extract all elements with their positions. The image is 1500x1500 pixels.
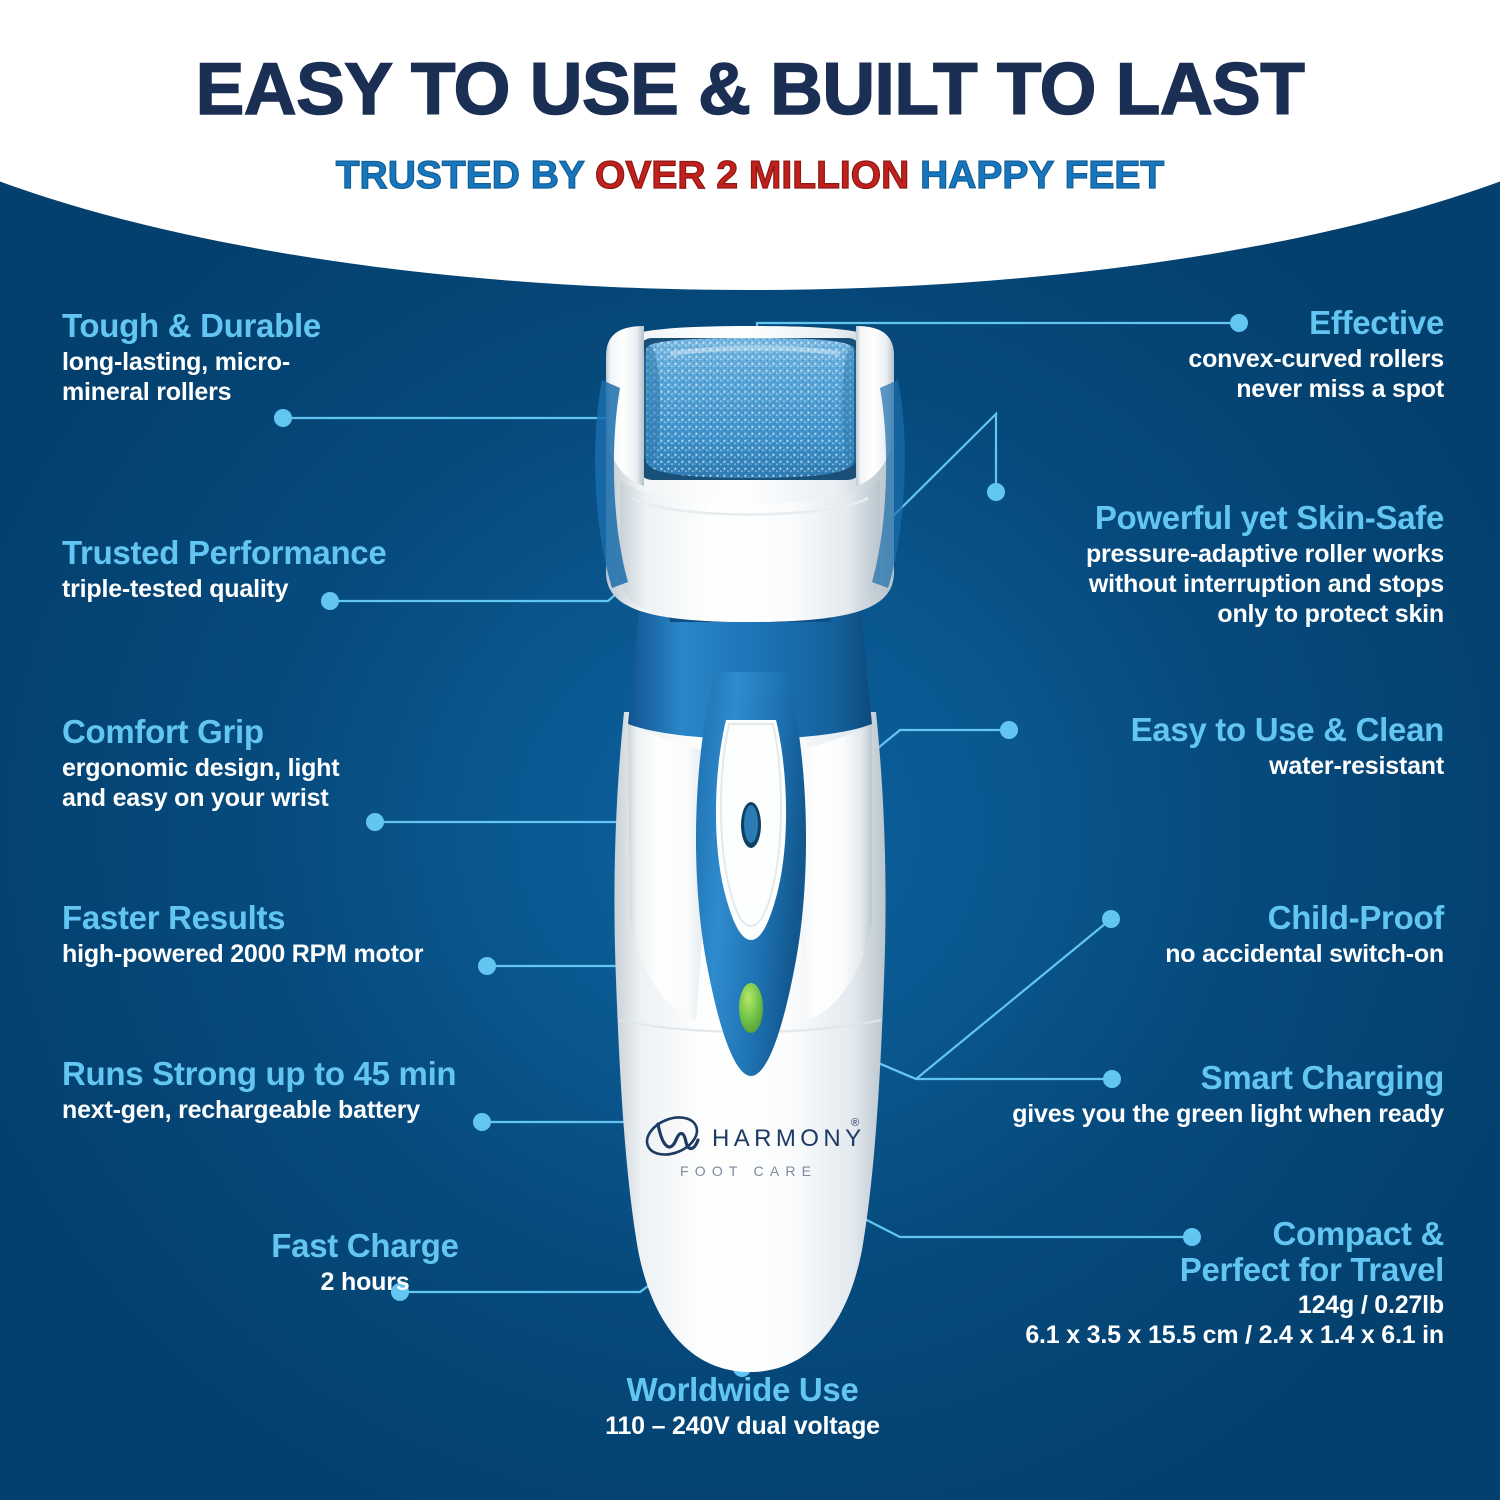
callout-child-proof: Child-Proof no accidental switch-on [924,900,1444,969]
subtitle-part-2: OVER 2 MILLION [595,154,920,197]
header-band: EASY TO USE & BUILT TO LAST TRUSTED BY O… [0,0,1500,300]
callout-effective: Effective convex-curved rollers never mi… [924,305,1444,404]
callout-heading: Faster Results [62,900,423,936]
callout-subtext-line: convex-curved rollers [924,344,1444,374]
page-title: EASY TO USE & BUILT TO LAST [0,48,1500,131]
callout-heading: Compact & [824,1216,1444,1252]
callout-fast-charge: Fast Charge 2 hours [200,1228,530,1297]
callout-heading: Effective [924,305,1444,341]
callout-compact-travel: Compact & Perfect for Travel 124g / 0.27… [824,1216,1444,1350]
callout-easy-use-clean: Easy to Use & Clean water-resistant [924,712,1444,781]
callout-subtext-line: next-gen, rechargeable battery [62,1095,456,1125]
callout-subtext-line: 124g / 0.27lb [824,1290,1444,1320]
callout-heading: Fast Charge [200,1228,530,1264]
callout-worldwide-use: Worldwide Use 110 – 240V dual voltage [470,1372,1015,1441]
header-white-arc [0,0,1500,290]
callout-subtext-line: without interruption and stops [884,569,1444,599]
callout-heading: Smart Charging [884,1060,1444,1096]
callout-tough-durable: Tough & Durable long-lasting, micro- min… [62,308,321,407]
infographic-canvas: HARMONY ® FOOT CARE EASY TO USE & BUILT … [0,0,1500,1500]
callout-subtext-line: pressure-adaptive roller works [884,539,1444,569]
callout-heading: Worldwide Use [470,1372,1015,1408]
callout-subtext-line: 110 – 240V dual voltage [470,1411,1015,1441]
callout-subtext-line: and easy on your wrist [62,783,339,813]
callout-subtext-line: water-resistant [924,751,1444,781]
callout-heading: Child-Proof [924,900,1444,936]
subtitle-part-3: HAPPY FEET [920,154,1164,197]
callout-subtext-line: long-lasting, micro- [62,347,321,377]
callout-powerful-skin-safe: Powerful yet Skin-Safe pressure-adaptive… [884,500,1444,629]
callout-subtext-line: 6.1 x 3.5 x 15.5 cm / 2.4 x 1.4 x 6.1 in [824,1320,1444,1350]
callout-subtext-line: triple-tested quality [62,574,386,604]
callout-subtext-line: 2 hours [200,1267,530,1297]
callout-heading: Powerful yet Skin-Safe [884,500,1444,536]
callout-subtext-line: no accidental switch-on [924,939,1444,969]
callout-heading: Easy to Use & Clean [924,712,1444,748]
callout-subtext-line: ergonomic design, light [62,753,339,783]
callout-heading: Comfort Grip [62,714,339,750]
callout-subtext-line: never miss a spot [924,374,1444,404]
callout-runs-strong: Runs Strong up to 45 min next-gen, recha… [62,1056,456,1125]
subtitle-part-1: TRUSTED BY [336,154,595,197]
callout-subtext-line: only to protect skin [884,599,1444,629]
svg-text:FOOT CARE: FOOT CARE [680,1163,817,1179]
svg-text:HARMONY: HARMONY [712,1125,865,1152]
callout-heading: Tough & Durable [62,308,321,344]
callout-faster-results: Faster Results high-powered 2000 RPM mot… [62,900,423,969]
callout-trusted-performance: Trusted Performance triple-tested qualit… [62,535,386,604]
callout-subtext-line: gives you the green light when ready [884,1099,1444,1129]
callout-subtext-line: mineral rollers [62,377,321,407]
callout-heading: Runs Strong up to 45 min [62,1056,456,1092]
callout-heading: Perfect for Travel [824,1252,1444,1288]
callout-subtext-line: high-powered 2000 RPM motor [62,939,423,969]
callout-smart-charging: Smart Charging gives you the green light… [884,1060,1444,1129]
page-subtitle: TRUSTED BY OVER 2 MILLION HAPPY FEET [0,154,1500,198]
svg-text:®: ® [851,1117,859,1129]
callout-comfort-grip: Comfort Grip ergonomic design, light and… [62,714,339,813]
callout-heading: Trusted Performance [62,535,386,571]
